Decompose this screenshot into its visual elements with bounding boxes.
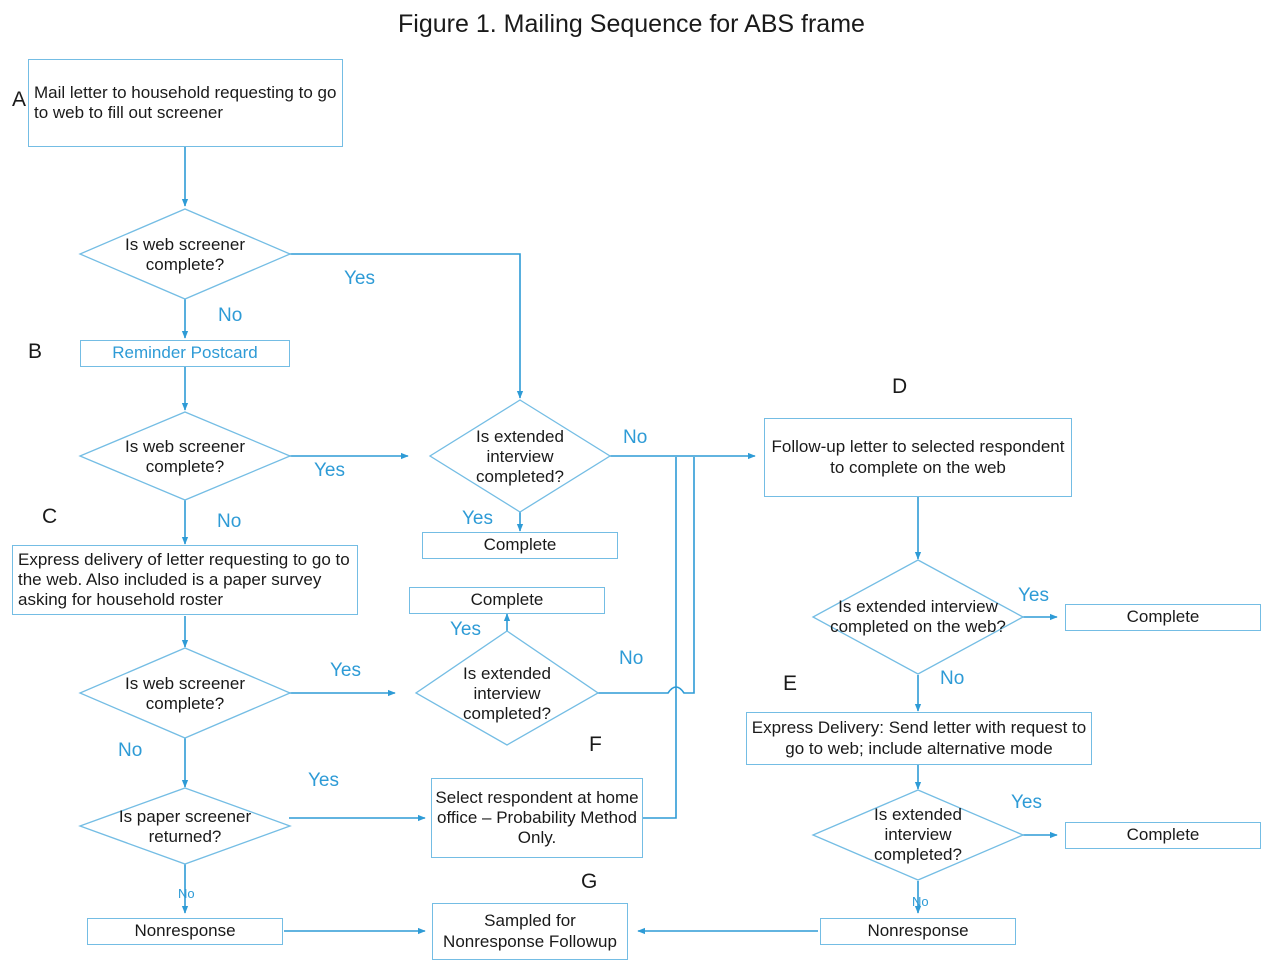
node-sampled-nrfu[interactable]: Sampled for Nonresponse Followup xyxy=(432,903,628,960)
edge-label-yes-1: Yes xyxy=(344,268,375,290)
edge-extMid-no xyxy=(597,457,694,693)
node-complete-mid[interactable]: Complete xyxy=(409,587,605,614)
edge-screener1-yes xyxy=(289,254,520,398)
edge-label-no-mid: No xyxy=(619,648,643,670)
node-express-delivery-c[interactable]: Express delivery of letter requesting to… xyxy=(12,545,358,615)
node-ext-interview-mid: Is extended interview completed? xyxy=(439,659,575,729)
edge-label-yes-mid: Yes xyxy=(450,619,481,641)
edge-label-no-4: No xyxy=(178,886,195,901)
edge-label-yes-top: Yes xyxy=(462,508,493,530)
diamond-ext-interview-web xyxy=(813,560,1023,674)
edge-label-no-1: No xyxy=(218,305,242,327)
node-web-screener-3: Is web screener complete? xyxy=(105,671,265,717)
edge-label-yes-4: Yes xyxy=(308,770,339,792)
diamond-web-screener-2 xyxy=(80,412,290,500)
edge-label-no-top: No xyxy=(623,427,647,449)
diamond-ext-interview-mid xyxy=(416,631,598,745)
section-label-g: G xyxy=(581,870,597,894)
figure-title: Figure 1. Mailing Sequence for ABS frame xyxy=(0,10,1263,39)
node-select-respondent[interactable]: Select respondent at home office – Proba… xyxy=(431,778,643,858)
node-reminder-postcard[interactable]: Reminder Postcard xyxy=(80,340,290,367)
node-web-screener-1: Is web screener complete? xyxy=(105,232,265,278)
edge-label-no-3: No xyxy=(118,740,142,762)
edge-select-to-bus xyxy=(643,457,676,818)
diamond-ext-interview-right xyxy=(813,790,1023,880)
section-label-d: D xyxy=(892,375,907,399)
edge-label-no-rb: No xyxy=(912,894,929,909)
section-label-a: A xyxy=(12,88,26,112)
section-label-c: C xyxy=(42,505,57,529)
node-ext-interview-top: Is extended interview completed? xyxy=(452,422,588,492)
edge-label-yes-2: Yes xyxy=(314,460,345,482)
diamond-ext-interview-top xyxy=(430,400,610,512)
section-label-b: B xyxy=(28,340,42,364)
diamond-paper-screener xyxy=(80,788,290,864)
node-complete-top[interactable]: Complete xyxy=(422,532,618,559)
node-nonresponse-right[interactable]: Nonresponse xyxy=(820,918,1016,945)
edge-label-yes-rb: Yes xyxy=(1011,792,1042,814)
flowchart-canvas: Figure 1. Mailing Sequence for ABS frame xyxy=(0,0,1263,962)
node-followup-letter[interactable]: Follow-up letter to selected respondent … xyxy=(764,418,1072,497)
node-complete-right-top[interactable]: Complete xyxy=(1065,604,1261,631)
diamond-web-screener-3 xyxy=(80,648,290,738)
edge-label-yes-3: Yes xyxy=(330,660,361,682)
diamond-web-screener-1 xyxy=(80,209,290,299)
section-label-f: F xyxy=(589,733,602,757)
node-complete-right-bot[interactable]: Complete xyxy=(1065,822,1261,849)
node-web-screener-2: Is web screener complete? xyxy=(105,434,265,480)
node-ext-interview-web: Is extended interview completed on the w… xyxy=(828,582,1008,652)
node-paper-screener: Is paper screener returned? xyxy=(105,804,265,850)
node-nonresponse-left[interactable]: Nonresponse xyxy=(87,918,283,945)
edge-label-no-2: No xyxy=(217,511,241,533)
node-express-delivery-e[interactable]: Express Delivery: Send letter with reque… xyxy=(746,712,1092,765)
edge-label-yes-web: Yes xyxy=(1018,585,1049,607)
node-ext-interview-right: Is extended interview completed? xyxy=(850,800,986,870)
node-mail-letter[interactable]: Mail letter to household requesting to g… xyxy=(28,59,343,147)
edge-label-no-web: No xyxy=(940,668,964,690)
section-label-e: E xyxy=(783,672,797,696)
